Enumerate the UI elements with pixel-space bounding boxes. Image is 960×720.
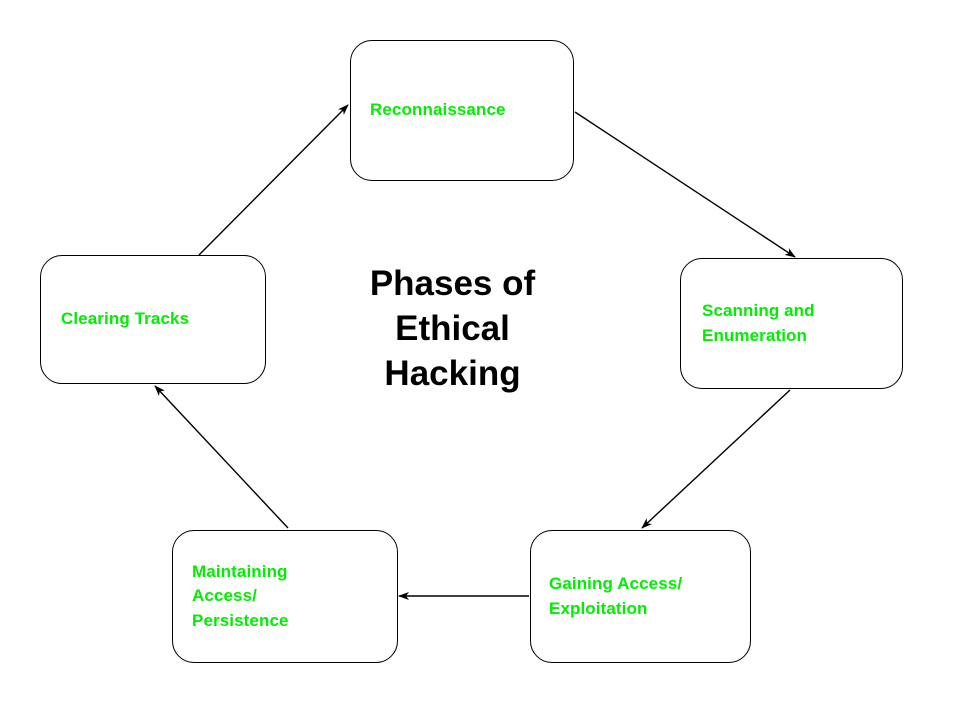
arrow-reconnaissance-to-scanning — [575, 112, 795, 257]
phase-label-clearing-tracks: Clearing Tracks — [41, 307, 189, 332]
phase-label-scanning-and-enumeration: Scanning and Enumeration — [681, 299, 815, 348]
phase-node-gaining-access-exploitation[interactable]: Gaining Access/ Exploitation — [530, 530, 751, 663]
diagram-title: Phases of Ethical Hacking — [300, 262, 605, 396]
phase-node-maintaining-access-persistence[interactable]: Maintaining Access/ Persistence — [172, 530, 398, 663]
phase-label-maintaining-access-persistence: Maintaining Access/ Persistence — [173, 560, 289, 634]
arrow-clearing-to-reconnaissance — [199, 105, 348, 255]
diagram-canvas: Reconnaissance Scanning and Enumeration … — [0, 0, 960, 720]
phase-label-gaining-access-exploitation: Gaining Access/ Exploitation — [531, 572, 682, 621]
phase-node-clearing-tracks[interactable]: Clearing Tracks — [40, 255, 266, 384]
phase-node-scanning-and-enumeration[interactable]: Scanning and Enumeration — [680, 258, 903, 389]
phase-label-reconnaissance: Reconnaissance — [351, 98, 506, 123]
arrow-maintaining-to-clearing — [155, 386, 288, 528]
arrow-scanning-to-gaining — [642, 390, 790, 528]
phase-node-reconnaissance[interactable]: Reconnaissance — [350, 40, 574, 181]
